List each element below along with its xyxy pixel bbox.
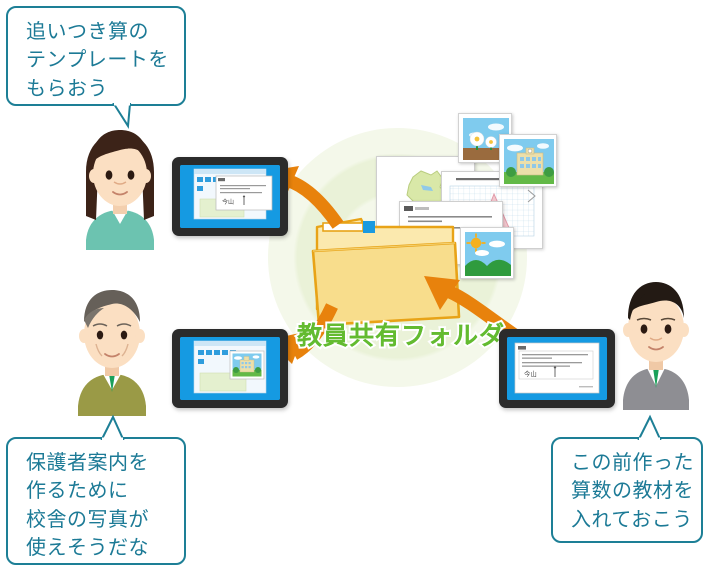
tablet-screen bbox=[180, 337, 280, 400]
center-label: 教員共有フォルダ bbox=[297, 316, 487, 352]
speech-bubble-bottom-right-tail bbox=[636, 415, 666, 441]
bubble-line: この前作った bbox=[571, 449, 687, 477]
bubble-line: 算数の教材を bbox=[571, 477, 687, 505]
tablet-bottom-left[interactable] bbox=[172, 329, 288, 408]
landscape-photo bbox=[460, 227, 514, 279]
svg-text:今山: 今山 bbox=[524, 369, 537, 378]
speech-bubble-top: 追いつき算の テンプレートを もらおう bbox=[6, 6, 186, 106]
speech-bubble-bottom-left: 保護者案内を 作るために 校舎の写真が 使えそうだな bbox=[6, 437, 186, 565]
senior-male-teacher-avatar bbox=[62, 282, 162, 416]
svg-text:今山: 今山 bbox=[222, 198, 234, 206]
bubble-line: 校舎の写真が bbox=[26, 506, 170, 534]
tablet-screen-content: 今山 bbox=[507, 337, 607, 400]
bubble-line: 入れておこう bbox=[571, 506, 687, 534]
folder-icon bbox=[305, 205, 465, 330]
school-photo bbox=[499, 134, 557, 187]
tablet-screen: 今山 bbox=[507, 337, 607, 400]
tablet-top-left[interactable]: 今山 bbox=[172, 157, 288, 236]
school-photo-thumbnail bbox=[230, 351, 264, 379]
person-senior-male-teacher bbox=[62, 282, 162, 416]
school-building-illustration bbox=[504, 139, 554, 184]
young-male-teacher-avatar bbox=[607, 276, 705, 410]
landscape-illustration bbox=[465, 232, 511, 276]
tablet-screen: 今山 bbox=[180, 165, 280, 228]
diagram-canvas: 今山 bbox=[0, 0, 710, 574]
bubble-line: テンプレートを bbox=[26, 46, 170, 74]
tablet-bottom-right[interactable]: 今山 bbox=[499, 329, 615, 408]
speech-bubble-top-tail bbox=[112, 104, 142, 128]
bubble-line: 保護者案内を bbox=[26, 449, 170, 477]
bubble-line: 作るために bbox=[26, 477, 170, 505]
person-young-male-teacher bbox=[607, 276, 705, 410]
bubble-line: もらおう bbox=[26, 75, 170, 103]
female-teacher-avatar bbox=[72, 124, 168, 250]
tablet-screen-content: 今山 bbox=[180, 165, 280, 228]
tablet-screen-content bbox=[180, 337, 280, 400]
person-female-teacher bbox=[72, 124, 168, 250]
bubble-line: 使えそうだな bbox=[26, 534, 170, 562]
bubble-line: 追いつき算の bbox=[26, 18, 170, 46]
speech-bubble-bottom-left-tail bbox=[99, 415, 129, 441]
speech-bubble-bottom-right: この前作った 算数の教材を 入れておこう bbox=[551, 437, 703, 543]
shared-folder bbox=[305, 205, 465, 330]
